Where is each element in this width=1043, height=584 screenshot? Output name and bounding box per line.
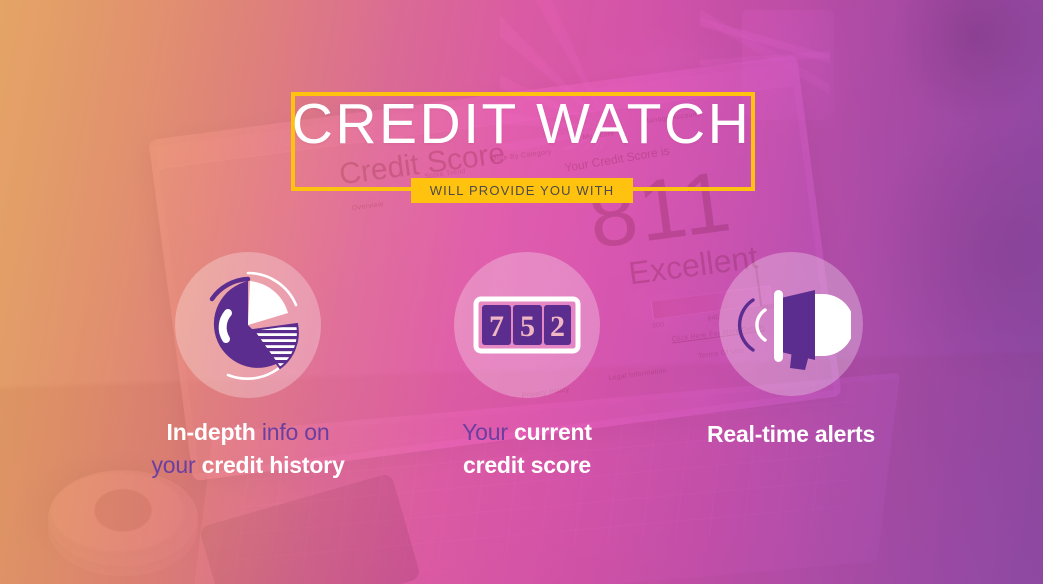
feature-caption: In-depth info on your credit history (98, 416, 398, 482)
feature-caption: Real-time alerts (641, 418, 941, 451)
score-digit-1: 7 (489, 310, 504, 343)
credit-score-digits-icon: 7 5 2 (472, 287, 582, 363)
megaphone-icon (731, 274, 851, 374)
credit-watch-promo-slide: Credit Score More By Category Score Tren… (0, 0, 1043, 584)
caption-soft-2: your (151, 452, 195, 478)
subtitle-text: WILL PROVIDE YOU WITH (430, 183, 615, 198)
feature-credit-score[interactable]: 7 5 2 Your current credit score (377, 252, 677, 482)
caption-bold-2: credit score (463, 452, 591, 478)
pie-chart-icon (182, 259, 314, 391)
feature-caption: Your current credit score (377, 416, 677, 482)
caption-soft-1: Your (462, 419, 508, 445)
feature-icon-circle (175, 252, 321, 398)
page-title: CREDIT WATCH (0, 96, 1043, 153)
caption-soft-1: info on (262, 419, 330, 445)
feature-icon-circle (719, 252, 863, 396)
caption-bold-1: current (514, 419, 592, 445)
score-digit-2: 5 (520, 310, 535, 343)
feature-icon-circle: 7 5 2 (454, 252, 600, 398)
caption-bold-2: credit history (202, 452, 345, 478)
feature-realtime-alerts[interactable]: Real-time alerts (641, 252, 941, 451)
caption-bold-1: Real-time alerts (707, 421, 875, 447)
feature-credit-history[interactable]: In-depth info on your credit history (98, 252, 398, 482)
score-digit-3: 2 (550, 310, 565, 343)
caption-bold-1: In-depth (167, 419, 256, 445)
subtitle-ribbon: WILL PROVIDE YOU WITH (411, 178, 633, 203)
